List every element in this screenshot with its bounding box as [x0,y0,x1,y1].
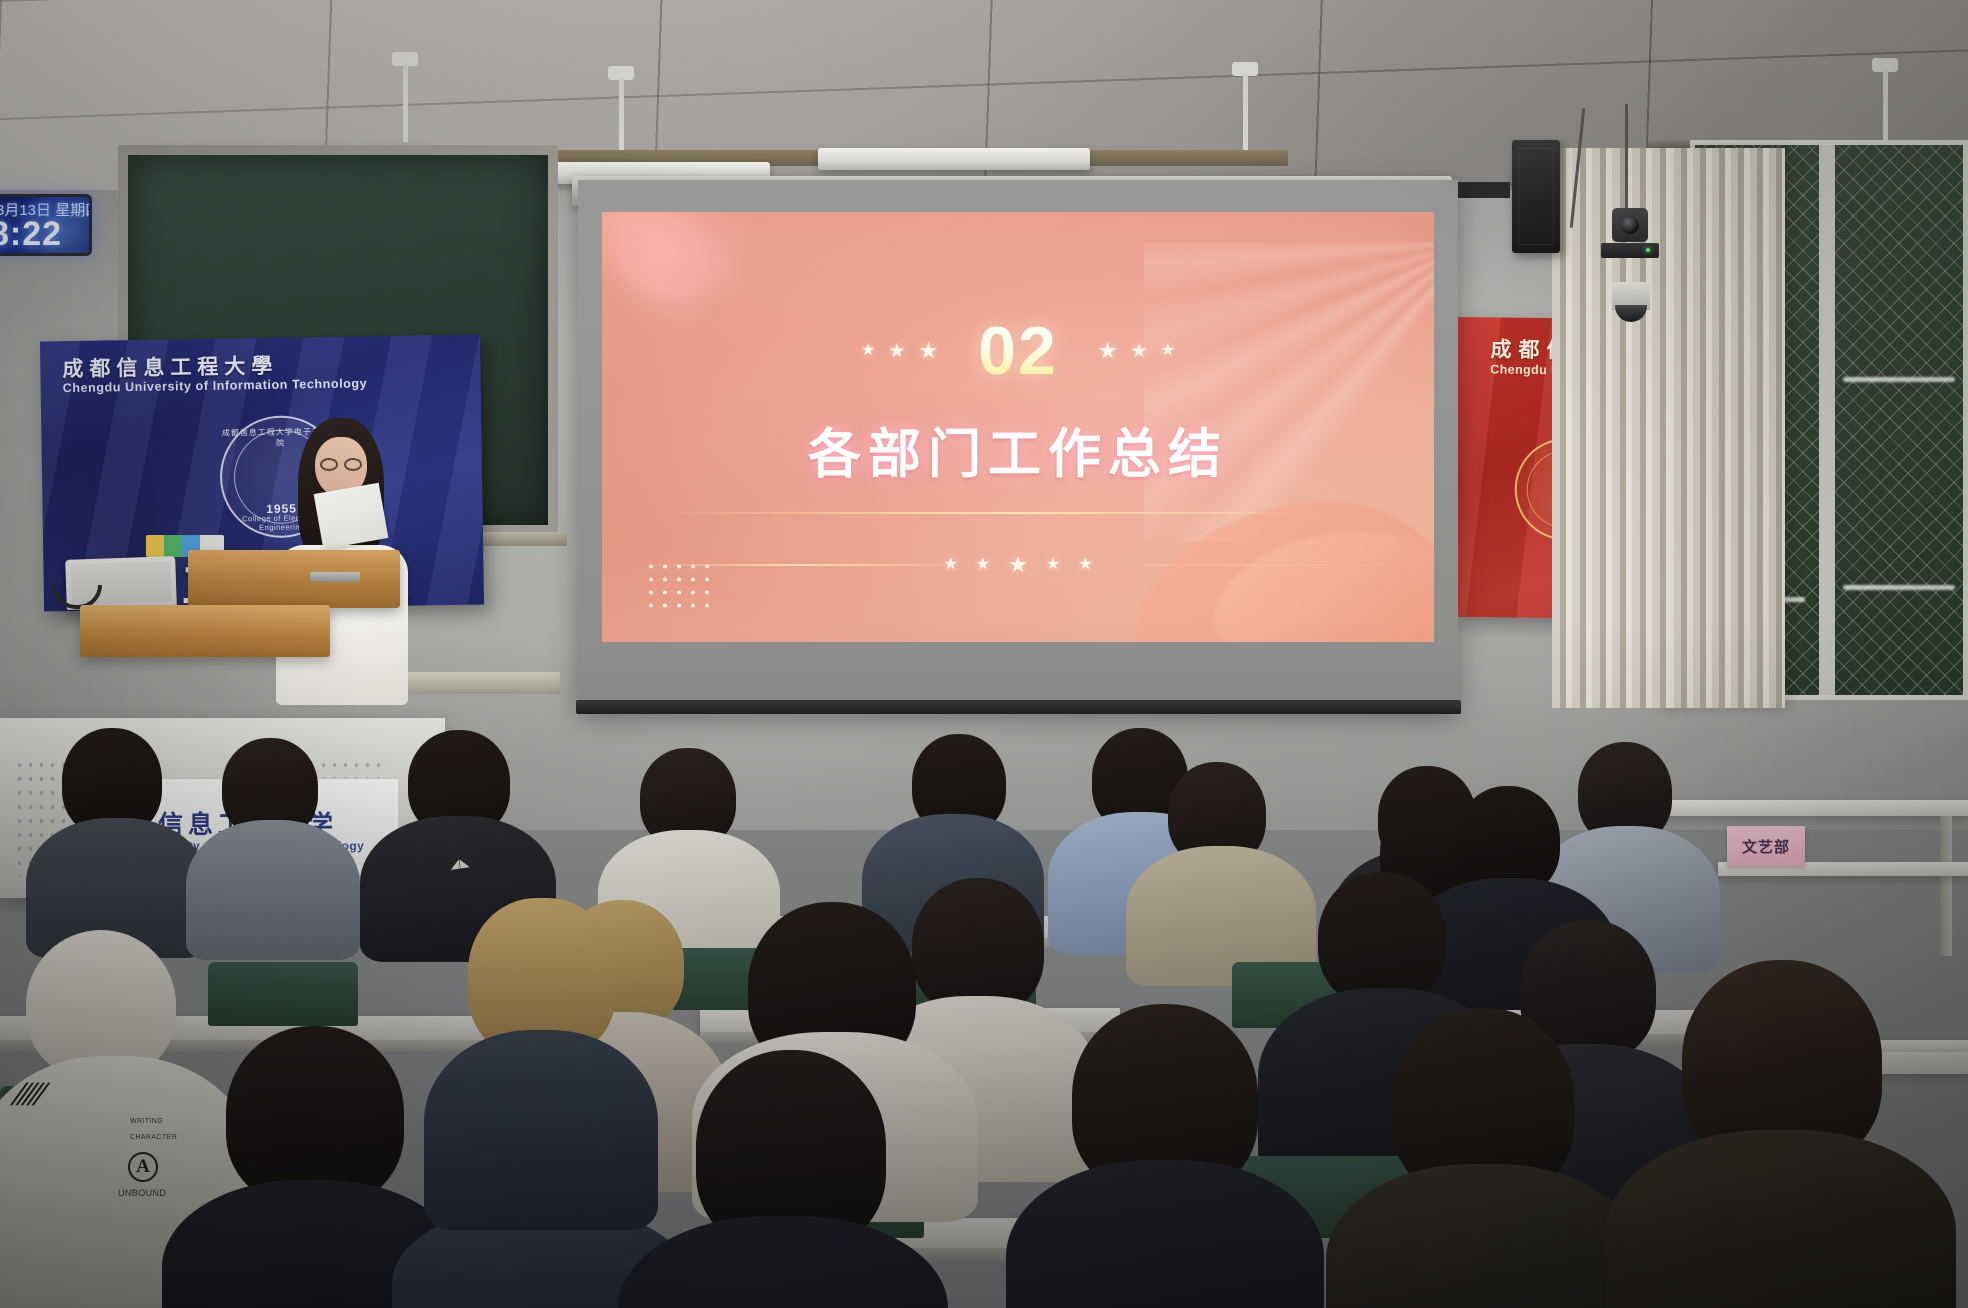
star-icon: ★ [1131,342,1148,361]
camera-status-led [1646,248,1650,252]
slide-section-number: 02 [978,312,1058,390]
window-pane-right [1835,145,1963,695]
camera-cable [1625,104,1628,210]
star-icon: ★ [1078,557,1092,573]
jacket-subtext-1: WRITING [130,1118,163,1125]
jacket-graphic: ◢◣ [449,855,470,872]
glasses-icon [320,458,338,471]
classroom-scene: 3月13日 星期四 8:22 成都信息工程大學 Chengdu Universi… [0,0,1968,1308]
star-icon: ★ [1098,340,1118,362]
glasses-icon [344,458,362,471]
chair-back [208,962,358,1026]
stars-left: ★ ★ ★ [861,340,938,362]
audience-head [1318,872,1446,1006]
stars-right: ★ ★ ★ [1098,340,1175,362]
side-desk-top [1632,800,1968,816]
window-reflection [1843,585,1955,590]
star-icon: ★ [943,557,957,573]
projector-screen-bottom-bar [576,700,1461,714]
jacket-a-logo-icon: A [128,1152,158,1182]
lectern-front-panel [80,605,330,657]
slide-number-row: ★ ★ ★ 02 ★ ★ ★ [602,312,1434,390]
projector-screen: ★ ★ ★ 02 ★ ★ ★ 各部门工作总结 ★ ★ [578,180,1458,708]
jacket-subtext-2: CHARACTER [130,1134,177,1141]
light-fixture-right [818,148,1090,170]
jacket-brand-label: UNBOUND [118,1188,166,1198]
ptz-camera [1612,208,1648,242]
dot-grid-decoration [644,560,718,614]
star-icon: ★ [918,340,938,362]
lamp-rod [403,64,408,142]
curtain-right [1655,148,1785,708]
star-icon: ★ [976,557,990,573]
presentation-slide: ★ ★ ★ 02 ★ ★ ★ 各部门工作总结 ★ ★ [602,212,1434,642]
star-icon: ★ [888,342,905,361]
led-clock-display: 3月13日 星期四 8:22 [0,194,92,256]
lectern-handle [310,572,360,582]
star-icon: ★ [1046,557,1060,573]
audience-body [186,820,360,960]
presenter-script-paper [314,483,389,550]
slide-title: 各部门工作总结 [602,412,1434,488]
window-reflection [1843,377,1955,382]
curtain-left [1552,148,1670,708]
light-ray-decoration [1144,242,1434,542]
led-clock-time: 8:22 [0,215,62,254]
desk-leg [1940,816,1952,956]
table-tent-card: 文艺部 [1727,826,1805,866]
star-icon: ★ [861,343,875,359]
star-icon: ★ [1008,554,1028,576]
star-icon: ★ [1161,343,1175,359]
ptz-camera-base [1601,243,1659,258]
audience-body [424,1030,658,1230]
window-mesh [1835,145,1963,695]
wall-speaker [1512,140,1560,253]
lamp-rod [1243,74,1248,162]
audience-head-front [226,1026,404,1206]
audience-body [1606,1130,1956,1308]
camera-lens [1621,216,1639,234]
lectern-top [188,550,400,608]
table-tent-label: 文艺部 [1742,836,1790,857]
